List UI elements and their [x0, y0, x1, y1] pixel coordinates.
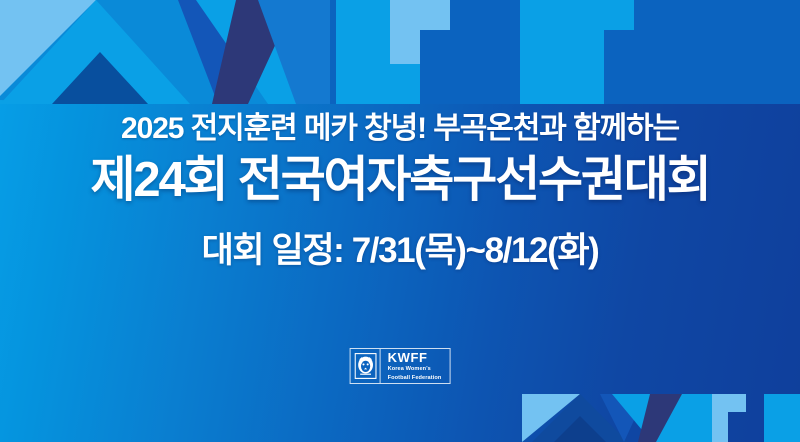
- poster-subtitle: 2025 전지훈련 메카 창녕! 부곡온천과 함께하는: [121, 112, 679, 147]
- bottom-band-shapes: [0, 380, 800, 442]
- kwff-geometric-band-bottom: [0, 380, 800, 442]
- top-band-shapes: [0, 0, 800, 104]
- poster-main-title: 제24회 전국여자축구선수권대회: [91, 153, 710, 208]
- tiger-emblem-icon: [351, 349, 381, 383]
- poster-date-line: 대회 일정: 7/31(목)~8/12(화): [202, 231, 599, 271]
- poster-banner: 2025 전지훈련 메카 창녕! 부곡온천과 함께하는 제24회 전국여자축구선…: [0, 0, 800, 442]
- kwff-logo-acronym: KWFF: [388, 351, 442, 364]
- b-f1-steps-light: [712, 394, 746, 428]
- f2-stem: [520, 0, 574, 104]
- kwff-logo-fullname-line1: Korea Women's: [388, 366, 442, 373]
- emblem-face: [360, 361, 369, 372]
- b-f1-lower: [712, 428, 728, 442]
- f1-stem: [336, 0, 390, 104]
- emblem-eye-right: [366, 363, 368, 365]
- f1-lower: [390, 64, 420, 104]
- tiger-emblem-shape: [354, 353, 376, 379]
- b-f2-stem: [764, 394, 796, 442]
- emblem-eye-left: [362, 363, 364, 365]
- kwff-logo-text: KWFF Korea Women's Football Federation: [381, 349, 450, 383]
- b-f2-steps: [796, 394, 800, 442]
- emblem-ear-left: [359, 357, 362, 360]
- b-f1-stem: [682, 394, 712, 442]
- kwff-logo: KWFF Korea Women's Football Federation: [350, 348, 451, 384]
- f2-lower: [574, 64, 604, 104]
- emblem-base-bar: [360, 374, 371, 375]
- emblem-ear-right: [368, 357, 371, 360]
- kwff-geometric-band-top: [0, 0, 800, 104]
